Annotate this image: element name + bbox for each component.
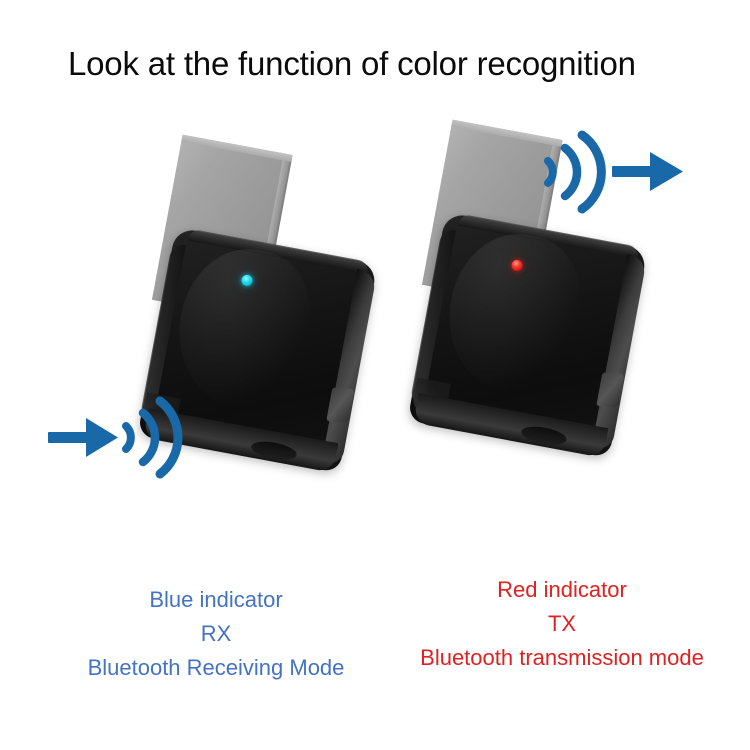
arrow-right-glyph [612, 152, 683, 191]
adapter-body-right [407, 212, 647, 458]
page-title: Look at the function of color recognitio… [68, 43, 636, 85]
caption-tx-line3: Bluetooth transmission mode [362, 641, 750, 675]
caption-rx-line2: RX [16, 617, 416, 651]
signal-arrow-inbound-icon [46, 392, 186, 488]
caption-rx: Blue indicator RX Bluetooth Receiving Mo… [16, 583, 416, 685]
signal-arcs [126, 401, 178, 474]
caption-tx-line1: Red indicator [362, 573, 750, 607]
infographic-canvas: Look at the function of color recognitio… [0, 0, 750, 750]
caption-tx-line2: TX [362, 607, 750, 641]
caption-rx-line1: Blue indicator [16, 583, 416, 617]
signal-arrow-outbound-icon [538, 128, 690, 220]
arrow-right-glyph [48, 418, 118, 457]
caption-rx-line3: Bluetooth Receiving Mode [16, 651, 416, 685]
signal-arcs [548, 135, 601, 209]
caption-tx: Red indicator TX Bluetooth transmission … [362, 573, 750, 675]
